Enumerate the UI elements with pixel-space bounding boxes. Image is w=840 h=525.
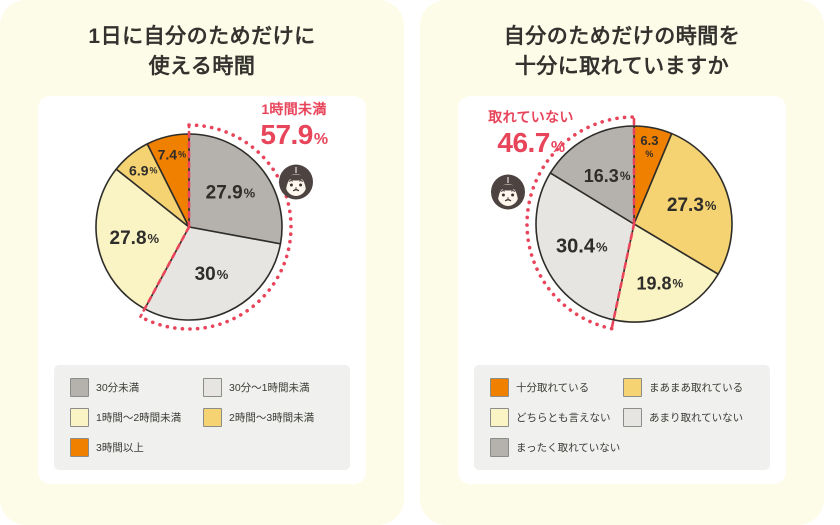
title-line-2: 使える時間 xyxy=(149,55,256,78)
legend-item[interactable]: どちらとも言えない xyxy=(490,408,623,427)
legend-swatch-icon xyxy=(623,408,642,427)
sad-woman-face-icon xyxy=(274,158,318,202)
pie-slice-label: 27.8% xyxy=(110,227,160,248)
pie-slice-label: 27.3% xyxy=(667,194,717,215)
title-line-2: 十分に取れていますか xyxy=(515,55,729,78)
legend-label: あまり取れていない xyxy=(649,410,743,425)
legend-left: 30分未満30分～1時間未満1時間～2時間未満2時間～3時間未満3時間以上 xyxy=(54,365,350,470)
legend-label: どちらとも言えない xyxy=(516,410,611,425)
legend-item[interactable]: まあまあ取れている xyxy=(623,378,756,397)
legend-label: 3時間以上 xyxy=(96,440,144,455)
sad-woman-face-icon xyxy=(486,168,530,212)
legend-label: まあまあ取れている xyxy=(649,380,743,395)
chart-card-time-sufficiency: 自分のためだけの時間を十分に取れていますか 6.3%27.3%19.8%30.4… xyxy=(420,0,824,525)
chart-panel-right: 6.3%27.3%19.8%30.4%16.3% 取れていない 46.7% xyxy=(458,96,786,484)
page-title-right: 自分のためだけの時間を十分に取れていますか xyxy=(457,22,787,82)
pie-chart-left: 27.9%30%27.8%6.9%7.4% 1時間未満 57.9% xyxy=(38,96,366,346)
chart-card-time-available: 1日に自分のためだけに使える時間 27.9%30%27.8%6.9%7.4% 1… xyxy=(0,0,404,525)
charts-stage: 1日に自分のためだけに使える時間 27.9%30%27.8%6.9%7.4% 1… xyxy=(0,0,840,525)
legend-label: 30分～1時間未満 xyxy=(229,380,310,395)
legend-label: 十分取れている xyxy=(516,380,589,395)
pie-chart-right: 6.3%27.3%19.8%30.4%16.3% 取れていない 46.7% xyxy=(458,96,786,346)
legend-swatch-icon xyxy=(70,408,89,427)
legend-item[interactable]: 1時間～2時間未満 xyxy=(70,408,203,427)
legend-item[interactable]: まったく取れていない xyxy=(490,438,623,457)
legend-swatch-icon xyxy=(203,408,222,427)
pie-chart-left-svg: 27.9%30%27.8%6.9%7.4% xyxy=(38,96,366,346)
legend-label: まったく取れていない xyxy=(516,440,620,455)
title-line-1: 自分のためだけの時間を xyxy=(504,25,741,48)
legend-item[interactable]: あまり取れていない xyxy=(623,408,756,427)
legend-item[interactable]: 十分取れている xyxy=(490,378,623,397)
pie-slice-label: 16.3% xyxy=(584,166,631,186)
title-line-1: 1日に自分のためだけに xyxy=(88,25,315,48)
legend-item[interactable]: 2時間～3時間未満 xyxy=(203,408,336,427)
legend-label: 30分未満 xyxy=(96,380,139,395)
legend-label: 2時間～3時間未満 xyxy=(229,410,314,425)
legend-item[interactable]: 30分～1時間未満 xyxy=(203,378,336,397)
legend-swatch-icon xyxy=(203,378,222,397)
pie-chart-right-svg: 6.3%27.3%19.8%30.4%16.3% xyxy=(458,96,786,346)
legend-right: 十分取れているまあまあ取れているどちらとも言えないあまり取れていないまったく取れ… xyxy=(474,365,770,470)
pie-slice-label: 30% xyxy=(195,263,229,284)
legend-swatch-icon xyxy=(623,378,642,397)
pie-slice-label: 27.9% xyxy=(206,182,256,203)
legend-swatch-icon xyxy=(490,438,509,457)
legend-swatch-icon xyxy=(70,438,89,457)
pie-slice-label: 19.8% xyxy=(636,273,683,293)
legend-item[interactable]: 30分未満 xyxy=(70,378,203,397)
page-title-left: 1日に自分のためだけに使える時間 xyxy=(37,22,367,82)
chart-panel-left: 27.9%30%27.8%6.9%7.4% 1時間未満 57.9% xyxy=(38,96,366,484)
legend-swatch-icon xyxy=(490,408,509,427)
legend-item[interactable]: 3時間以上 xyxy=(70,438,203,457)
legend-label: 1時間～2時間未満 xyxy=(96,410,181,425)
legend-swatch-icon xyxy=(70,378,89,397)
legend-swatch-icon xyxy=(490,378,509,397)
